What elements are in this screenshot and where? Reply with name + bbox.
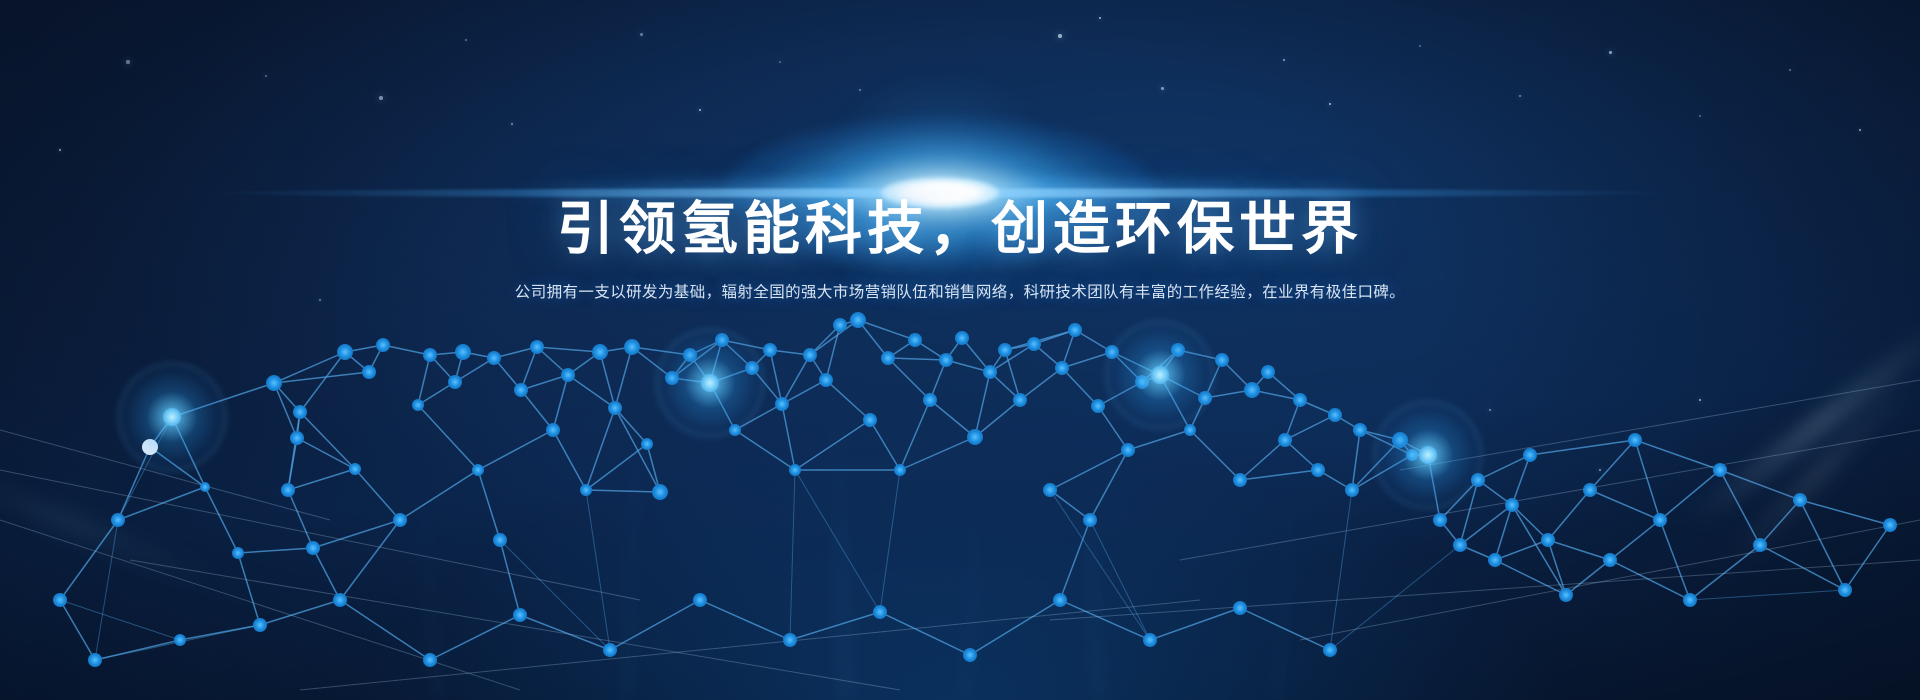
network-node: [546, 423, 560, 437]
network-edge: [150, 447, 205, 487]
network-edge: [1330, 545, 1460, 650]
network-node: [1043, 483, 1057, 497]
network-edge: [586, 408, 615, 490]
network-node: [624, 339, 640, 355]
network-edge-long: [0, 470, 640, 600]
network-edge: [1760, 545, 1845, 590]
network-node: [1345, 483, 1359, 497]
network-node: [333, 593, 347, 607]
network-node: [1505, 498, 1519, 512]
network-node: [1753, 538, 1767, 552]
network-node: [423, 653, 437, 667]
network-edge: [1240, 440, 1285, 480]
network-edge: [790, 470, 795, 640]
network-edge: [735, 404, 782, 430]
network-edge: [300, 352, 345, 412]
network-edge: [1690, 590, 1845, 600]
network-node: [1603, 553, 1617, 567]
network-edge: [1635, 440, 1660, 520]
network-edge: [1845, 525, 1890, 590]
network-node: [1261, 365, 1275, 379]
network-edge: [238, 553, 260, 625]
network-edge: [1352, 455, 1412, 490]
network-node: [881, 351, 895, 365]
network-node: [306, 541, 320, 555]
network-edge: [1352, 430, 1360, 490]
network-node: [665, 371, 679, 385]
network-node: [923, 393, 937, 407]
network-edge: [1635, 440, 1720, 470]
network-edge: [60, 600, 95, 660]
network-node: [715, 333, 729, 347]
network-edge: [1590, 440, 1635, 490]
network-edge: [615, 347, 632, 408]
network-node: [1406, 449, 1418, 461]
network-edge: [1548, 490, 1590, 540]
network-node: [863, 413, 877, 427]
network-edge: [1050, 490, 1090, 520]
network-edge: [1800, 500, 1890, 525]
network-node: [908, 333, 922, 347]
network-edge: [537, 347, 600, 352]
network-edge: [870, 420, 900, 470]
hero-banner: 引领氢能科技，创造环保世界 公司拥有一支以研发为基础，辐射全国的强大市场营销队伍…: [0, 0, 1920, 700]
network-node: [163, 408, 181, 426]
network-edge: [400, 470, 478, 520]
network-edge: [1060, 520, 1090, 600]
network-node: [983, 365, 997, 379]
network-edge: [672, 340, 722, 378]
network-node: [1083, 513, 1097, 527]
network-node: [745, 361, 759, 375]
network-edge: [795, 470, 880, 612]
network-edge: [172, 383, 274, 417]
network-node: [412, 399, 424, 411]
network-node: [1105, 345, 1119, 359]
network-node: [1541, 533, 1555, 547]
network-node: [53, 593, 67, 607]
network-edges: [0, 320, 1920, 690]
network-node: [1488, 553, 1502, 567]
network-node: [580, 484, 592, 496]
network-node: [693, 593, 707, 607]
network-edge: [1495, 505, 1512, 560]
network-edge: [888, 358, 946, 360]
network-node: [376, 338, 390, 352]
network-edge: [1352, 440, 1400, 490]
network-edge: [288, 469, 355, 490]
network-edge: [790, 612, 880, 640]
network-node: [1583, 483, 1597, 497]
network-edge: [118, 417, 172, 520]
network-edge: [238, 548, 313, 553]
network-node: [1793, 493, 1807, 507]
network-node: [423, 348, 437, 362]
network-mesh: [0, 0, 1920, 700]
network-edge: [553, 430, 586, 490]
network-node: [603, 643, 617, 657]
network-edge: [826, 380, 870, 420]
network-edge: [1660, 470, 1720, 520]
network-node: [1053, 593, 1067, 607]
network-nodes: [53, 312, 1897, 667]
network-node: [1323, 643, 1337, 657]
network-node: [253, 618, 267, 632]
network-node: [448, 375, 462, 389]
network-edge: [1098, 406, 1128, 450]
network-edge: [700, 600, 790, 640]
network-edge: [1720, 470, 1760, 545]
network-node: [1278, 433, 1292, 447]
network-node: [592, 344, 608, 360]
network-edge: [1020, 368, 1062, 400]
network-edge: [1460, 505, 1512, 545]
network-node: [894, 464, 906, 476]
network-edge: [1566, 560, 1610, 595]
network-edge: [180, 625, 260, 640]
network-edge: [430, 615, 520, 660]
network-node: [819, 373, 833, 387]
network-node: [88, 653, 102, 667]
network-node: [963, 648, 977, 662]
network-edge: [478, 430, 553, 470]
network-edge: [172, 417, 205, 487]
network-node: [967, 429, 983, 445]
network-edge: [586, 490, 610, 650]
network-node: [1091, 399, 1105, 413]
network-node: [514, 383, 528, 397]
network-edge: [521, 390, 553, 430]
network-node: [1433, 513, 1447, 527]
network-node: [1653, 513, 1667, 527]
network-node: [293, 405, 307, 419]
network-node: [1353, 423, 1367, 437]
network-edge-long: [130, 560, 900, 690]
network-edge: [1330, 490, 1352, 650]
network-node: [783, 633, 797, 647]
network-node: [803, 348, 817, 362]
network-node: [1419, 446, 1437, 464]
network-node: [487, 351, 501, 365]
network-edge: [297, 438, 355, 469]
network-node: [683, 348, 697, 362]
network-edge: [313, 548, 340, 600]
network-node: [1244, 382, 1260, 398]
network-edge-long: [1050, 560, 1920, 620]
network-edge: [1240, 470, 1318, 480]
network-node: [1068, 323, 1082, 337]
network-node: [493, 533, 507, 547]
network-edge: [95, 520, 118, 660]
network-edge: [610, 600, 700, 650]
network-edge: [880, 470, 900, 612]
network-edge: [888, 358, 930, 400]
network-node: [1559, 588, 1573, 602]
network-node: [1683, 593, 1697, 607]
network-edge: [60, 520, 118, 600]
network-edge-long: [0, 520, 520, 690]
network-node: [1713, 463, 1727, 477]
network-node: [1628, 433, 1642, 447]
network-node: [701, 374, 719, 392]
network-node: [1233, 601, 1247, 615]
network-node: [1453, 538, 1467, 552]
network-node: [513, 608, 527, 622]
page-title: 引领氢能科技，创造环保世界: [0, 196, 1920, 263]
network-edge: [521, 375, 568, 390]
network-edge: [826, 325, 840, 380]
network-node: [362, 365, 376, 379]
network-node: [1215, 353, 1229, 367]
network-edge: [1720, 470, 1800, 500]
network-node: [393, 513, 407, 527]
network-node: [281, 483, 295, 497]
network-edge: [586, 490, 660, 492]
network-node: [608, 401, 622, 415]
network-node: [174, 634, 186, 646]
network-edge: [1090, 520, 1150, 640]
network-node: [998, 343, 1012, 357]
network-node: [232, 547, 244, 559]
network-node: [652, 484, 668, 500]
network-node: [142, 439, 158, 455]
network-edge: [782, 404, 795, 470]
network-edge: [1128, 430, 1190, 450]
network-node: [939, 353, 953, 367]
network-node: [729, 424, 741, 436]
network-edge: [553, 375, 568, 430]
network-node: [1027, 337, 1041, 351]
network-edge: [735, 430, 795, 470]
network-node: [1143, 633, 1157, 647]
network-node: [455, 344, 471, 360]
network-edge: [1548, 540, 1610, 560]
network-edge: [1190, 430, 1240, 480]
network-edge: [288, 412, 300, 490]
network-node: [1838, 583, 1852, 597]
network-edge: [1495, 540, 1548, 560]
network-node: [561, 368, 575, 382]
network-edge: [288, 490, 313, 548]
network-node: [789, 464, 801, 476]
network-edge-long: [300, 600, 1200, 690]
network-edge: [970, 600, 1060, 655]
network-edge: [1062, 368, 1098, 406]
network-edge: [1610, 520, 1660, 560]
network-node: [1392, 432, 1408, 448]
hero-text-block: 引领氢能科技，创造环保世界 公司拥有一支以研发为基础，辐射全国的强大市场营销队伍…: [0, 196, 1920, 306]
network-edge-long: [1400, 380, 1920, 470]
network-edge: [1062, 352, 1112, 368]
network-edge: [1590, 490, 1660, 520]
network-node: [1013, 393, 1027, 407]
network-node: [1184, 424, 1196, 436]
network-edge: [1098, 382, 1142, 406]
network-edge: [615, 408, 660, 492]
network-edge: [500, 540, 520, 615]
network-edge: [795, 420, 870, 470]
network-node: [111, 513, 125, 527]
network-edge: [313, 520, 400, 548]
network-node: [833, 318, 847, 332]
network-edge: [300, 412, 355, 469]
network-edge: [355, 469, 400, 520]
network-node: [349, 463, 361, 475]
network-edge: [418, 405, 478, 470]
network-node: [200, 482, 210, 492]
network-node: [850, 312, 866, 328]
network-edge: [500, 540, 610, 650]
network-node: [873, 605, 887, 619]
network-edge: [383, 345, 430, 355]
network-node: [1198, 391, 1212, 405]
network-edge: [520, 615, 610, 650]
network-node: [266, 375, 282, 391]
network-edge: [1800, 500, 1845, 590]
network-edge: [930, 400, 975, 437]
network-node: [1328, 408, 1342, 422]
network-edge: [722, 340, 770, 350]
network-node: [955, 331, 969, 345]
network-node: [290, 431, 304, 445]
network-edge-long: [0, 430, 330, 520]
network-node: [1151, 366, 1169, 384]
network-edge: [418, 355, 430, 405]
network-node: [337, 344, 353, 360]
network-node: [1523, 448, 1537, 462]
network-edge: [205, 487, 238, 553]
network-node: [1233, 473, 1247, 487]
network-node: [763, 343, 777, 357]
network-edge: [340, 520, 400, 600]
network-edge: [1760, 500, 1800, 545]
network-node: [641, 438, 653, 450]
page-subtitle: 公司拥有一支以研发为基础，辐射全国的强大市场营销队伍和销售网络，科研技术团队有丰…: [0, 281, 1920, 306]
network-node: [1471, 473, 1485, 487]
network-edge: [340, 600, 430, 660]
network-edge: [1150, 608, 1240, 640]
network-edge: [880, 612, 970, 655]
network-edge: [1240, 608, 1330, 650]
network-node: [1135, 375, 1149, 389]
network-node: [1293, 393, 1307, 407]
network-node: [1883, 518, 1897, 532]
network-edge: [260, 600, 340, 625]
network-node: [1171, 343, 1185, 357]
network-node: [530, 340, 544, 354]
network-edge: [478, 470, 500, 540]
network-edge: [60, 600, 180, 640]
network-node: [1121, 443, 1135, 457]
network-node: [1311, 463, 1325, 477]
network-edge: [1530, 440, 1635, 455]
network-node: [472, 464, 484, 476]
network-node: [775, 397, 789, 411]
network-node: [1055, 361, 1069, 375]
